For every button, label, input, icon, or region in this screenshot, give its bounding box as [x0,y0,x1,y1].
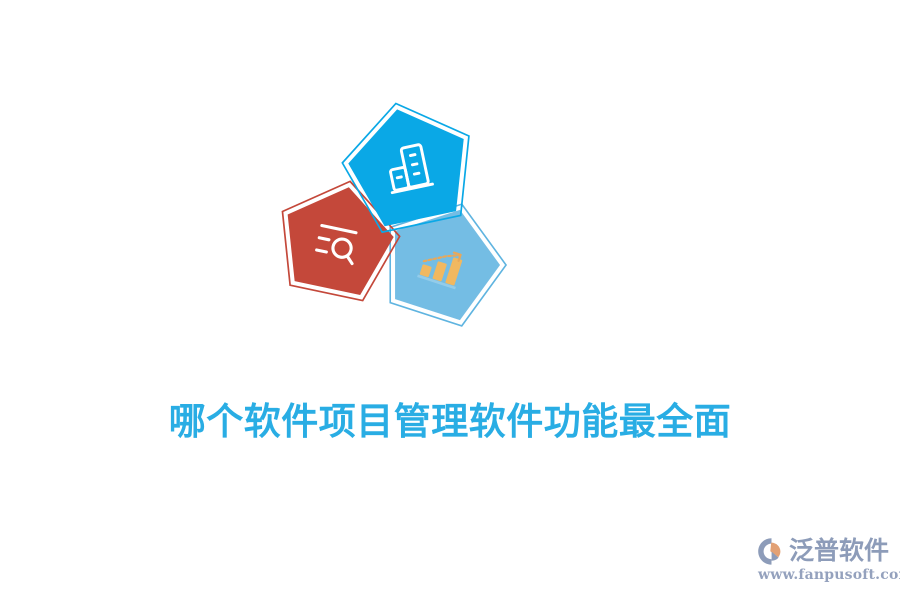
page-canvas: 哪个软件项目管理软件功能最全面 泛普软件 www.fanpusoft.com [0,0,900,600]
watermark-brand-row: 泛普软件 [756,536,889,566]
pentagon-blue [260,95,530,350]
watermark-brand-text: 泛普软件 [789,536,889,566]
watermark-logo: 泛普软件 www.fanpusoft.com [756,534,892,592]
pentagon-blue-body [339,97,478,231]
watermark-url-text: www.fanpusoft.com [758,567,900,583]
page-title: 哪个软件项目管理软件功能最全面 [0,399,900,443]
pentagon-cluster-graphic [260,95,530,350]
fanpu-logo-mark-icon [756,536,786,566]
